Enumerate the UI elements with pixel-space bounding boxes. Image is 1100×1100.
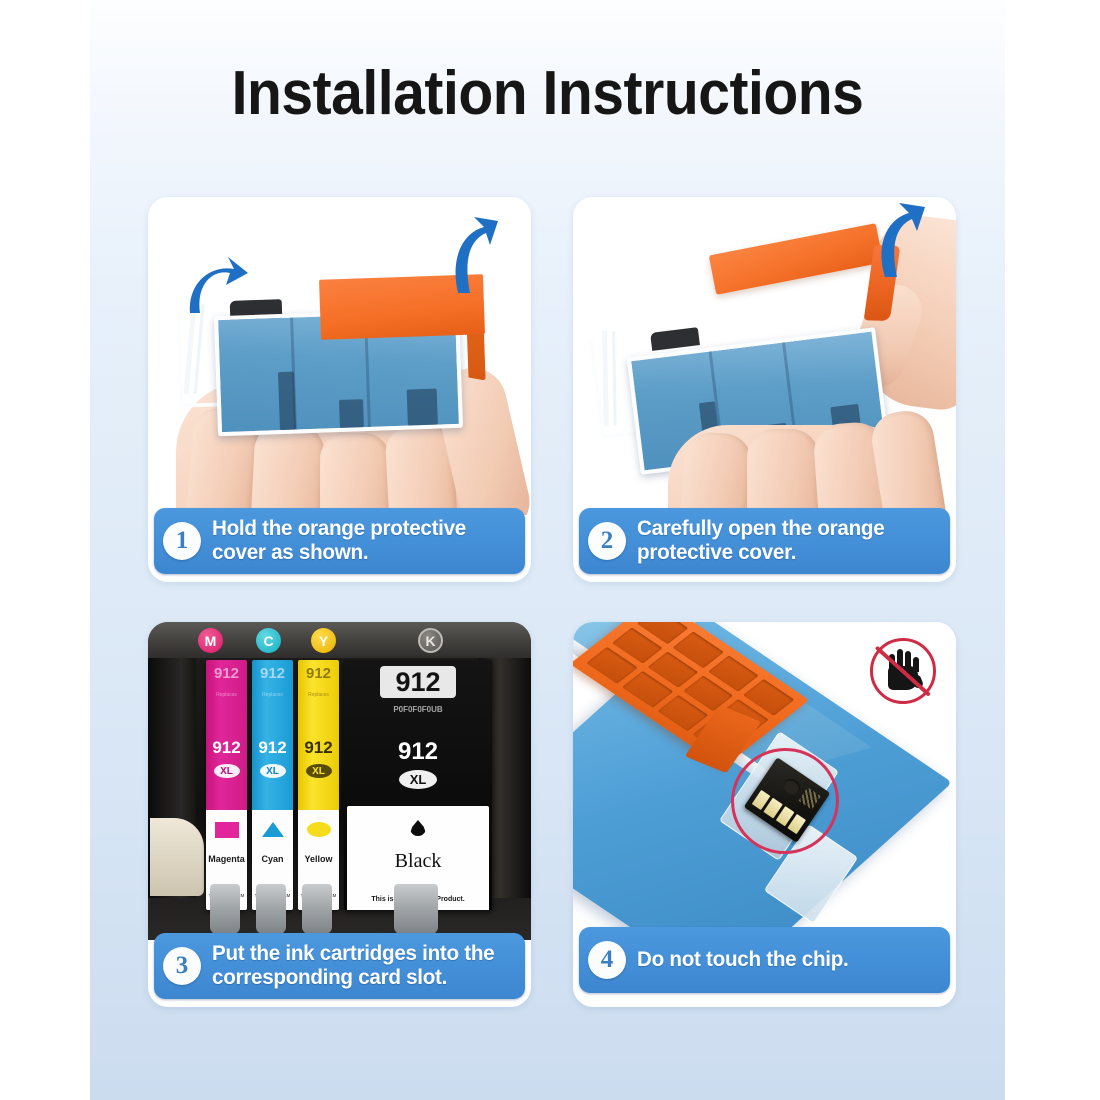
cartridge-black-top	[650, 327, 700, 351]
instructions-page: Installation Instructions	[0, 0, 1100, 1100]
cartridge-model-top: 912	[380, 666, 456, 698]
step-2-illustration	[573, 197, 956, 515]
step-number-badge: 4	[588, 941, 626, 979]
step-1-illustration	[148, 197, 531, 515]
cartridge-size-badge: XL	[214, 764, 240, 778]
cartridge-size-badge: XL	[306, 764, 332, 778]
step-caption-text: Put the ink cartridges into the correspo…	[212, 942, 503, 989]
step-3-illustration: M C Y K 912 Replaces 912 XL Magenta	[148, 622, 531, 940]
cartridge-size-badge: XL	[260, 764, 286, 778]
cartridge-color-name: Black	[347, 850, 489, 873]
cartridge-black: 912 P0F0F0F0UB 912 XL Black This is not …	[344, 660, 492, 910]
slot-latch	[210, 884, 240, 934]
cartridge-replaces-text: Replaces	[254, 692, 291, 698]
cartridge-replaces-text: Replaces	[208, 692, 245, 698]
step-3-caption-bar: 3 Put the ink cartridges into the corres…	[154, 933, 525, 999]
carriage-top-bar: M C Y K	[148, 622, 531, 658]
finger	[320, 433, 390, 515]
cartridge-model: 912	[298, 738, 339, 758]
color-swatch-cyan	[262, 822, 284, 837]
color-swatch-magenta	[215, 822, 239, 838]
cartridge-replaces-text: Replaces	[300, 692, 337, 698]
cartridge-magenta: 912 Replaces 912 XL Magenta This is not …	[206, 660, 247, 910]
cartridge-yellow: 912 Replaces 912 XL Yellow This is not a…	[298, 660, 339, 910]
cartridge-size-badge: XL	[399, 770, 437, 789]
slot-latch	[394, 884, 438, 934]
cartridge-color-name: Yellow	[298, 854, 339, 864]
step-number-badge: 3	[163, 947, 201, 985]
finger	[747, 429, 819, 515]
step-card-1: 1 Hold the orange protective cover as sh…	[148, 197, 531, 582]
cartridge-model: 912	[206, 738, 247, 758]
step-1-caption-bar: 1 Hold the orange protective cover as sh…	[154, 508, 525, 574]
ink-drop-icon	[411, 820, 426, 836]
finger	[248, 423, 325, 515]
cartridge-model-top: 912	[209, 665, 244, 682]
rotate-arrow-right-icon	[440, 215, 510, 295]
slot-indicator-black: K	[418, 628, 443, 653]
finger	[868, 407, 952, 515]
step-number-badge: 2	[588, 522, 626, 560]
color-swatch-yellow	[307, 822, 331, 837]
slot-indicator-magenta: M	[198, 628, 223, 653]
step-card-4: 4 Do not touch the chip.	[573, 622, 956, 1007]
step-card-2: 2 Carefully open the orange protective c…	[573, 197, 956, 582]
step-4-illustration	[573, 622, 956, 940]
cartridge-replaces-text: P0F0F0F0UB	[344, 705, 492, 716]
cartridge-model-top: 912	[301, 665, 336, 682]
cartridge-model: 912	[344, 738, 492, 766]
no-touch-icon	[866, 634, 940, 708]
step-caption-text: Do not touch the chip.	[637, 948, 849, 972]
step-number-badge: 1	[163, 522, 201, 560]
step-caption-text: Carefully open the orange protective cov…	[637, 517, 928, 564]
step-2-caption-bar: 2 Carefully open the orange protective c…	[579, 508, 950, 574]
orange-protective-cover	[709, 223, 884, 295]
slot-latch	[256, 884, 286, 934]
cartridge-chip-scene	[573, 622, 956, 940]
page-title: Installation Instructions	[127, 58, 969, 129]
printer-interior: M C Y K 912 Replaces 912 XL Magenta	[148, 622, 531, 940]
rotate-arrow-left-icon	[178, 247, 248, 317]
cartridge-cyan: 912 Replaces 912 XL Cyan This is not an …	[252, 660, 293, 910]
cartridge-color-name: Magenta	[206, 854, 247, 864]
slot-latch	[302, 884, 332, 934]
cartridge-model: 912	[252, 738, 293, 758]
cartridge-color-name: Cyan	[252, 854, 293, 864]
slot-indicator-cyan: C	[256, 628, 281, 653]
paper-tray	[150, 818, 204, 896]
step-4-caption-bar: 4 Do not touch the chip.	[579, 927, 950, 993]
step-caption-text: Hold the orange protective cover as show…	[212, 517, 503, 564]
cartridge-model-top: 912	[255, 665, 290, 682]
slot-indicator-yellow: Y	[311, 628, 336, 653]
rotate-arrow-icon	[867, 203, 933, 279]
finger	[677, 431, 754, 515]
steps-grid: 1 Hold the orange protective cover as sh…	[148, 197, 956, 1027]
step-card-3: M C Y K 912 Replaces 912 XL Magenta	[148, 622, 531, 1007]
